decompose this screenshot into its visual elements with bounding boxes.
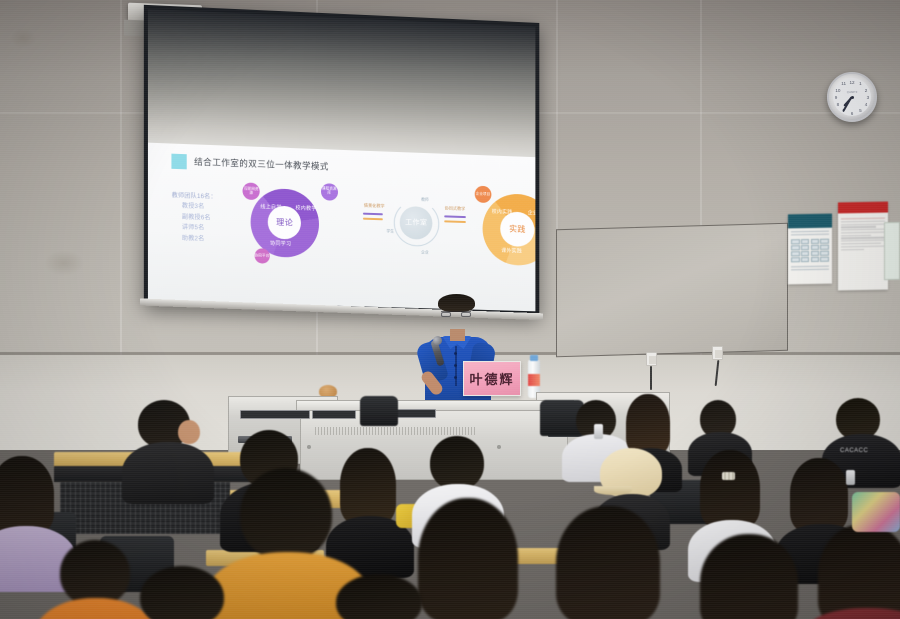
lecture-hall-photo: QUARTZ 12 1 2 3 4 5 6 7 8 9 10 11 <box>0 0 900 619</box>
audience: CACACC <box>0 0 900 619</box>
tshirt-graphic: CACACC <box>840 448 868 454</box>
chair <box>360 396 398 426</box>
smartphone[interactable] <box>594 424 603 439</box>
hair-clip <box>722 472 735 480</box>
smartphone[interactable] <box>846 470 855 485</box>
colorful-bag <box>852 492 900 532</box>
